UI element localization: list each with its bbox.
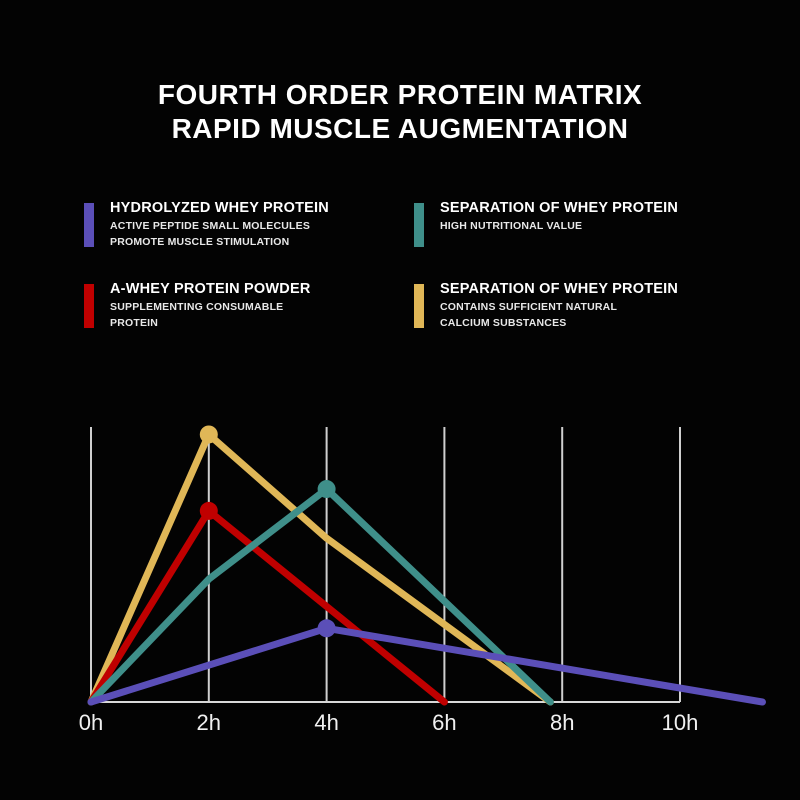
data-point-marker-0[interactable] — [200, 425, 218, 443]
x-tick-label-2h: 2h — [197, 710, 221, 735]
series-line-0 — [91, 434, 550, 702]
line-chart[interactable]: 0h2h4h6h8h10h — [0, 405, 800, 755]
legend-title: A-WHEY PROTEIN POWDER — [110, 281, 311, 298]
data-point-marker-3[interactable] — [318, 619, 336, 637]
legend-title: SEPARATION OF WHEY PROTEIN — [440, 200, 678, 217]
legend-swatch-purple — [84, 203, 94, 247]
legend-title: SEPARATION OF WHEY PROTEIN — [440, 281, 678, 298]
legend-subtitle-line-2: PROTEIN — [110, 317, 311, 330]
chart-series-lines — [91, 434, 762, 702]
legend-swatch-gold — [414, 284, 424, 328]
legend-subtitle-line-1: HIGH NUTRITIONAL VALUE — [440, 220, 678, 233]
series-line-1 — [91, 511, 444, 702]
legend-subtitle-line-2: PROMOTE MUSCLE STIMULATION — [110, 236, 329, 249]
title-line-2: RAPID MUSCLE AUGMENTATION — [0, 112, 800, 146]
legend-subtitle-line-1: ACTIVE PEPTIDE SMALL MOLECULES — [110, 220, 329, 233]
x-axis-tick-labels: 0h2h4h6h8h10h — [79, 710, 699, 735]
legend-item-a-whey-protein-powder[interactable]: A-WHEY PROTEIN POWDER SUPPLEMENTING CONS… — [84, 281, 414, 330]
legend-subtitle-line-2: CALCIUM SUBSTANCES — [440, 317, 678, 330]
page-title: FOURTH ORDER PROTEIN MATRIX RAPID MUSCLE… — [0, 78, 800, 146]
legend-item-separation-calcium[interactable]: SEPARATION OF WHEY PROTEIN CONTAINS SUFF… — [414, 281, 744, 330]
legend-subtitle-line-1: CONTAINS SUFFICIENT NATURAL — [440, 301, 678, 314]
legend-item-separation-high-nutritional-value[interactable]: SEPARATION OF WHEY PROTEIN HIGH NUTRITIO… — [414, 200, 744, 249]
chart-page: FOURTH ORDER PROTEIN MATRIX RAPID MUSCLE… — [0, 0, 800, 800]
chart-area: 0h2h4h6h8h10h — [0, 405, 800, 755]
legend-title: HYDROLYZED WHEY PROTEIN — [110, 200, 329, 217]
x-tick-label-0h: 0h — [79, 710, 103, 735]
legend-item-hydrolyzed-whey-protein[interactable]: HYDROLYZED WHEY PROTEIN ACTIVE PEPTIDE S… — [84, 200, 414, 249]
legend: HYDROLYZED WHEY PROTEIN ACTIVE PEPTIDE S… — [84, 200, 784, 330]
data-point-marker-2[interactable] — [318, 480, 336, 498]
x-tick-label-10h: 10h — [662, 710, 699, 735]
legend-swatch-teal — [414, 203, 424, 247]
legend-subtitle-line-1: SUPPLEMENTING CONSUMABLE — [110, 301, 311, 314]
title-line-1: FOURTH ORDER PROTEIN MATRIX — [0, 78, 800, 112]
x-tick-label-8h: 8h — [550, 710, 574, 735]
legend-swatch-red — [84, 284, 94, 328]
x-tick-label-6h: 6h — [432, 710, 456, 735]
data-point-marker-1[interactable] — [200, 502, 218, 520]
x-tick-label-4h: 4h — [314, 710, 338, 735]
